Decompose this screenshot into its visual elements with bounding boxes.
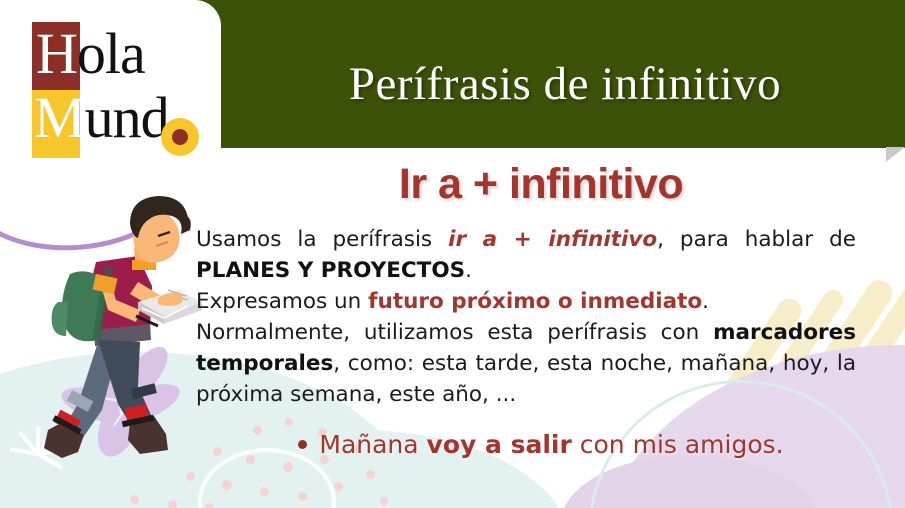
body-paragraph-3: Normalmente, utilizamos esta perífrasis … [196,317,856,410]
body-paragraph-1: Usamos la perífrasis ir a + infinitivo, … [196,224,856,286]
p1-highlight-planes: PLANES Y PROYECTOS [196,258,465,283]
slide-canvas: Perífrasis de infinitivo Hola Mund [0,0,905,508]
p1-highlight-periphrasis: ir a + infinitivo [448,227,657,252]
p1-text-e: . [465,258,472,283]
pink-dot [285,418,293,426]
pink-dot [334,482,343,491]
pink-dot [186,472,195,481]
lesson-body: Usamos la perífrasis ir a + infinitivo, … [196,224,856,410]
pink-dot [380,497,388,505]
pink-dot [366,470,375,479]
example-sentence: Mañana voy a salir con mis amigos. [196,430,886,459]
hand [158,293,183,306]
lavender-blob-shape-secondary [560,455,820,508]
logo-rest-ola: ola [77,21,145,86]
pink-dot [260,487,269,496]
pink-dot [283,462,293,472]
logo-target-core-icon [172,129,188,145]
example-text-a: Mañana [319,430,426,459]
example-highlight-verb: voy a salir [427,430,572,459]
backpack-pocket [52,302,68,336]
p2-text-c: . [702,289,709,314]
logo-word-hola: Hola [36,20,145,87]
page-title: Perífrasis de infinitivo [240,57,890,111]
pink-dot [222,480,232,490]
pink-dot [130,495,139,504]
body-paragraph-2: Expresamos un futuro próximo o inmediato… [196,286,856,317]
logo-hola-mundo[interactable]: Hola Mund [28,22,208,150]
pink-dot [298,492,307,501]
p1-text-a: Usamos la perífrasis [196,227,448,252]
student-walking-illustration [18,190,218,465]
p3-text-a: Normalmente, utilizamos esta perífrasis … [196,320,713,345]
logo-cap-h: H [36,21,77,86]
logo-cap-m: M [34,85,85,150]
bullet-icon [298,440,307,449]
banner-fold-shadow [886,147,905,162]
section-heading: Ir a + infinitivo [196,160,886,209]
p2-highlight-futuro: futuro próximo o inmediato [368,289,702,314]
pink-dot [168,500,177,508]
pink-dot [205,503,214,508]
logo-word-mundo: Mund [34,84,169,151]
example-text-c: con mis amigos. [572,430,784,459]
p1-text-c: , para hablar de [657,227,856,252]
p2-text-a: Expresamos un [196,289,368,314]
logo-rest-undo: und [85,85,169,150]
student-walking-icon [18,190,218,465]
